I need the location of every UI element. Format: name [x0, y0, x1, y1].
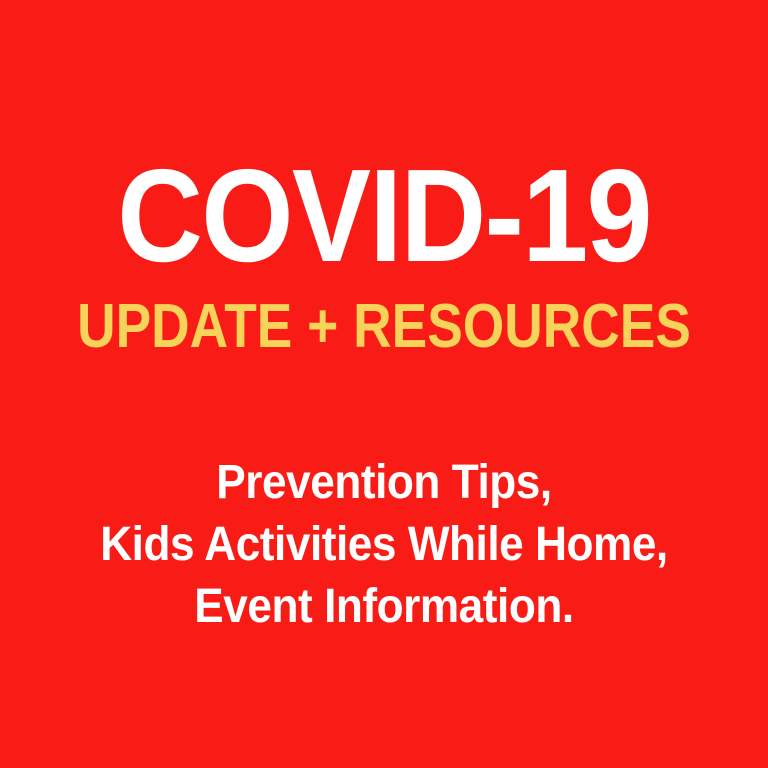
body-line-3: Event Information. [31, 576, 738, 638]
page-title: COVID-19 [38, 150, 729, 282]
body-copy-block: Prevention Tips, Kids Activities While H… [0, 452, 768, 638]
covid-announcement-poster: COVID-19 UPDATE + RESOURCES Prevention T… [0, 0, 768, 768]
headline-block: COVID-19 UPDATE + RESOURCES [0, 150, 768, 358]
body-line-2: Kids Activities While Home, [31, 514, 738, 576]
body-line-1: Prevention Tips, [31, 452, 738, 514]
page-subtitle: UPDATE + RESOURCES [54, 296, 714, 358]
